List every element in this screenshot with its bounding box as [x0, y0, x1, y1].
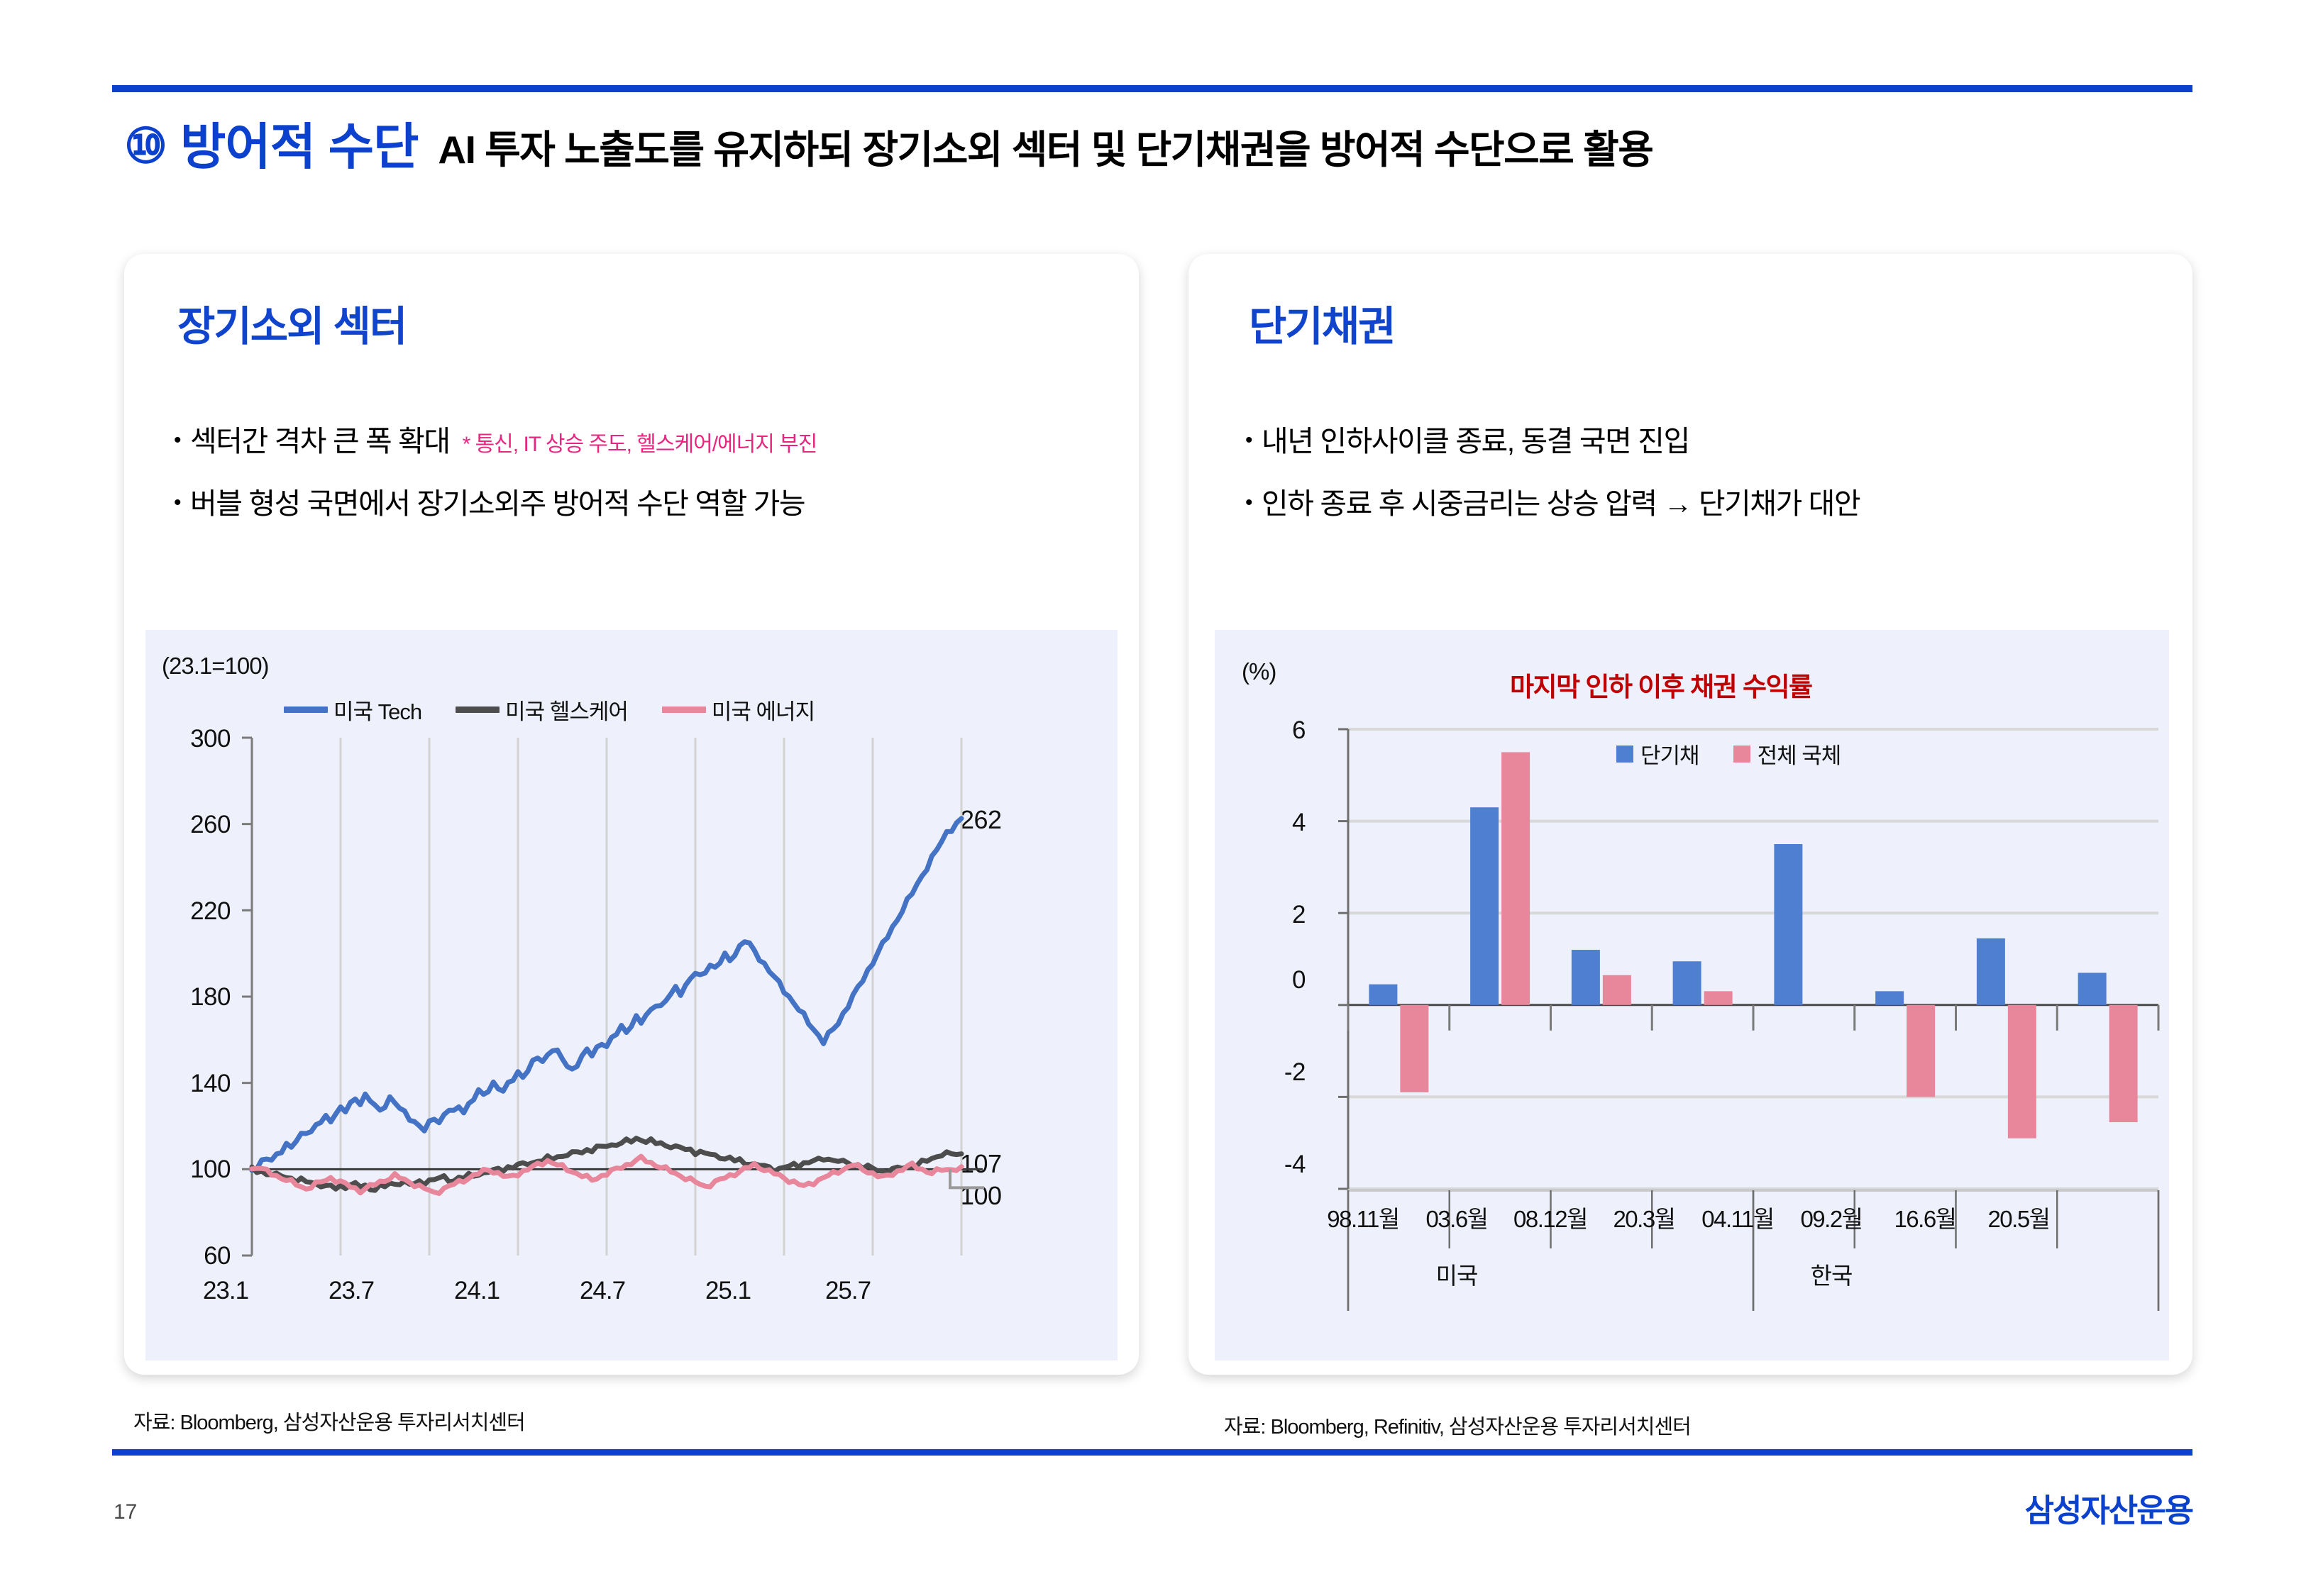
bullet-dot-icon: • [174, 492, 180, 514]
page-number: 17 [114, 1500, 137, 1524]
right-chart-source: 자료: Bloomberg, Refinitiv, 삼성자산운용 투자리서치센터 [1224, 1410, 1691, 1440]
list-item: • 버블 형성 국면에서 장기소외주 방어적 수단 역할 가능 [174, 480, 817, 522]
sector-performance-plot [145, 630, 1118, 1361]
x-axis-category: 04.11월 [1691, 1200, 1784, 1234]
list-item: • 섹터간 격차 큰 폭 확대 * 통신, IT 상승 주도, 헬스케어/에너지… [174, 417, 817, 460]
x-axis-category: 16.6월 [1878, 1200, 1972, 1234]
bullet-text: 내년 인하사이클 종료, 동결 국면 진입 [1262, 417, 1689, 460]
list-item: • 내년 인하사이클 종료, 동결 국면 진입 [1245, 417, 1860, 460]
header-divider-top [112, 85, 2192, 92]
left-bullet-list: • 섹터간 격차 큰 폭 확대 * 통신, IT 상승 주도, 헬스케어/에너지… [174, 417, 817, 542]
bullet-annotation: * 통신, IT 상승 주도, 헬스케어/에너지 부진 [463, 426, 817, 458]
left-card-title: 장기소외 섹터 [177, 306, 406, 348]
bullet-text: 인하 종료 후 시중금리는 상승 압력 → 단기채가 대안 [1262, 480, 1860, 522]
x-axis-category: 08.12월 [1504, 1200, 1597, 1234]
x-axis-category: 20.5월 [1972, 1200, 2065, 1234]
page-subtitle: AI 투자 노출도를 유지하되 장기소외 섹터 및 단기채권을 방어적 수단으로… [438, 131, 1653, 172]
left-chart-source: 자료: Bloomberg, 삼성자산운용 투자리서치센터 [133, 1406, 525, 1436]
x-axis-group-label: 한국 [1784, 1257, 1878, 1291]
brand-logo: 삼성자산운용 [2025, 1485, 2192, 1531]
bullet-dot-icon: • [1245, 492, 1252, 514]
x-axis-category: 03.6월 [1410, 1200, 1504, 1234]
x-axis-category: 09.2월 [1784, 1200, 1878, 1234]
bond-returns-plot [1215, 630, 2169, 1361]
bullet-dot-icon: • [174, 430, 180, 451]
footer-divider-bottom [112, 1449, 2192, 1456]
x-axis-category: 98.11월 [1316, 1200, 1410, 1234]
right-bullet-list: • 내년 인하사이클 종료, 동결 국면 진입 • 인하 종료 후 시중금리는 … [1245, 417, 1860, 542]
bullet-dot-icon: • [1245, 430, 1252, 451]
right-card-title: 단기채권 [1249, 306, 1394, 348]
page-title: 방어적 수단 [180, 122, 418, 172]
list-item: • 인하 종료 후 시중금리는 상승 압력 → 단기채가 대안 [1245, 480, 1860, 522]
section-number-badge: ⑩ [124, 122, 167, 172]
bullet-text: 섹터간 격차 큰 폭 확대 [190, 417, 450, 460]
bullet-text: 버블 형성 국면에서 장기소외주 방어적 수단 역할 가능 [190, 480, 805, 522]
x-axis-group-label: 미국 [1410, 1257, 1504, 1291]
x-axis-category: 20.3월 [1597, 1200, 1691, 1234]
page-header: ⑩ 방어적 수단 AI 투자 노출도를 유지하되 장기소외 섹터 및 단기채권을… [124, 122, 1653, 172]
